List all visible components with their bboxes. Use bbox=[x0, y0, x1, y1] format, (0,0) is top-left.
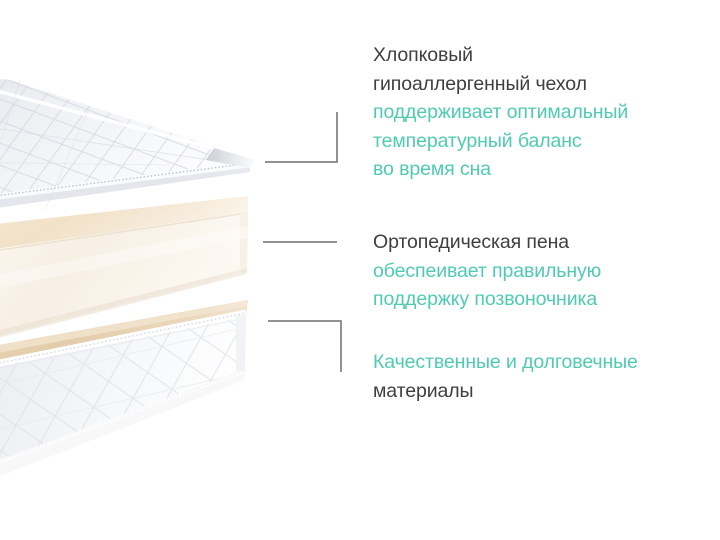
callout-cover-line-2: гипоаллергенный чехол bbox=[373, 70, 628, 99]
callout-leader-lines bbox=[250, 90, 360, 390]
callout-materials: Качественные и долговечные материалы bbox=[373, 348, 638, 405]
callout-materials-line-2: материалы bbox=[373, 377, 638, 406]
callout-foam-line-2: обеспеивает правильную bbox=[373, 257, 601, 286]
avito-wordmark: Avito bbox=[652, 505, 709, 531]
callout-foam: Ортопедическая пена обеспеивает правильн… bbox=[373, 228, 601, 314]
avito-logo-watermark: Avito bbox=[618, 502, 710, 532]
callout-foam-line-1: Ортопедическая пена bbox=[373, 228, 601, 257]
leader-lines-svg bbox=[250, 90, 360, 390]
callout-cover: Хлопковый гипоаллергенный чехол поддержи… bbox=[373, 41, 628, 184]
callout-cover-line-5: во время сна bbox=[373, 155, 628, 184]
callout-cover-line-4: температурный баланс bbox=[373, 127, 628, 156]
leader-cover bbox=[265, 112, 337, 162]
avito-logo-icon: Avito bbox=[618, 502, 710, 532]
leader-materials bbox=[268, 321, 341, 372]
callout-text-column: Хлопковый гипоаллергенный чехол поддержи… bbox=[373, 0, 720, 540]
callout-foam-line-3: поддержку позвоночника bbox=[373, 285, 601, 314]
screenshot-canvas: Хлопковый гипоаллергенный чехол поддержи… bbox=[0, 0, 720, 540]
callout-cover-line-1: Хлопковый bbox=[373, 41, 628, 70]
callout-cover-line-3: поддерживает оптимальный bbox=[373, 98, 628, 127]
callout-materials-line-1: Качественные и долговечные bbox=[373, 348, 638, 377]
